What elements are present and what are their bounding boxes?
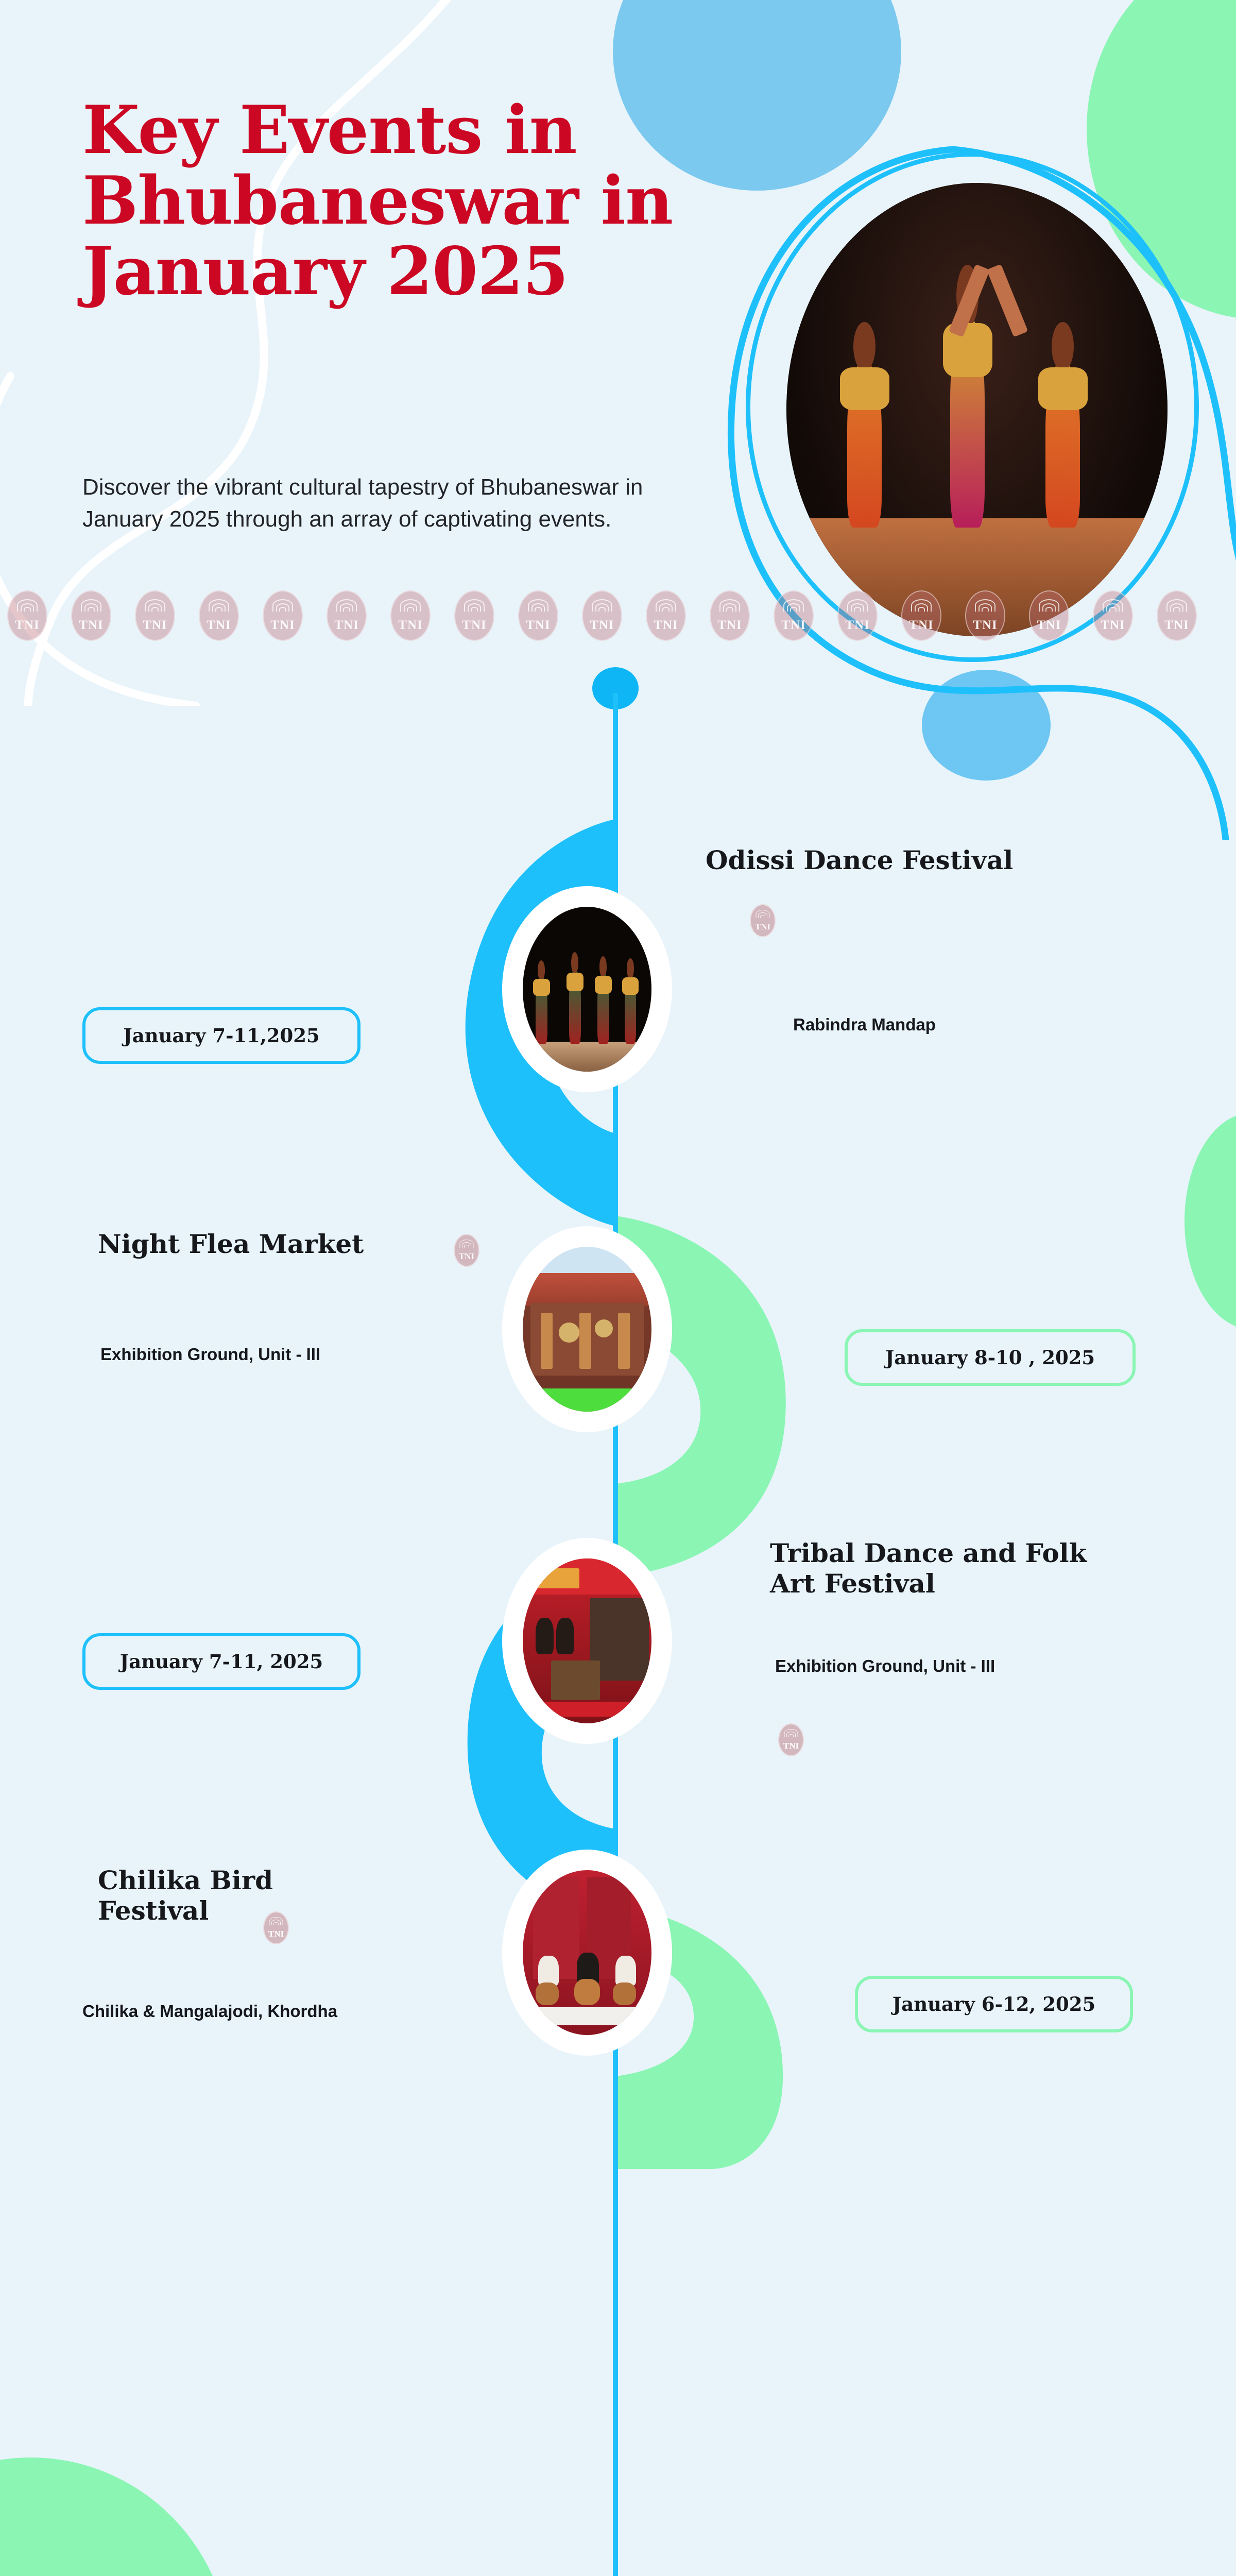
event-date-pill-2: January 8-10 , 2025: [845, 1329, 1136, 1386]
event-photo-odissi-dance-festival: [523, 907, 651, 1072]
decorative-blob-green-lower-left: [0, 2458, 232, 2576]
event-title-1: Odissi Dance Festival: [706, 845, 1013, 875]
timeline-spine-lower: [613, 2154, 618, 2576]
event-photo-night-flea-market: [523, 1247, 651, 1412]
infographic-page: Key Events in Bhubaneswar in January 202…: [0, 0, 1236, 2576]
event-title-3: Tribal Dance and Folk Art Festival: [770, 1538, 1089, 1599]
tni-watermark-label: TNI: [654, 618, 678, 633]
event-venue-3: Exhibition Ground, Unit - III: [775, 1654, 995, 1679]
timeline-node-photo: [502, 886, 672, 1092]
timeline-node-photo: [502, 1226, 672, 1432]
page-title: Key Events in Bhubaneswar in January 202…: [82, 95, 726, 307]
tni-watermark-label: TNI: [526, 618, 550, 633]
event-venue-4: Chilika & Mangalajodi, Khordha: [82, 1999, 350, 2024]
event-photo-chilika-bird-festival: [523, 1870, 651, 2035]
tni-watermark-badge: TNI: [518, 590, 558, 641]
decorative-blob-green-middle-right: [1184, 1113, 1236, 1329]
event-venue-2: Exhibition Ground, Unit - III: [100, 1342, 320, 1367]
tni-watermark-badge: TNI: [646, 590, 686, 641]
tni-mark-icon: TNI: [454, 1234, 479, 1267]
tni-watermark-label: TNI: [590, 618, 614, 633]
event-venue-1: Rabindra Mandap: [793, 1012, 936, 1037]
tni-mark-icon: TNI: [263, 1911, 289, 1944]
event-date-pill-1: January 7-11,2025: [82, 1007, 360, 1064]
page-subtitle: Discover the vibrant cultural tapestry o…: [82, 471, 690, 536]
tni-mark-icon: TNI: [750, 904, 776, 937]
event-title-4: Chilika Bird Festival: [98, 1865, 340, 1926]
event-photo-tribal-dance-folk-art-festival: [523, 1558, 651, 1723]
event-date-pill-3: January 7-11, 2025: [82, 1633, 360, 1690]
tni-watermark-badge: TNI: [582, 590, 622, 641]
event-date-pill-4: January 6-12, 2025: [855, 1976, 1133, 2032]
tni-mark-icon: TNI: [778, 1723, 804, 1756]
timeline-node-photo: [502, 1538, 672, 1744]
event-title-2: Night Flea Market: [98, 1229, 364, 1259]
timeline-node-photo: [502, 1850, 672, 2056]
hero-photo: [786, 183, 1168, 636]
